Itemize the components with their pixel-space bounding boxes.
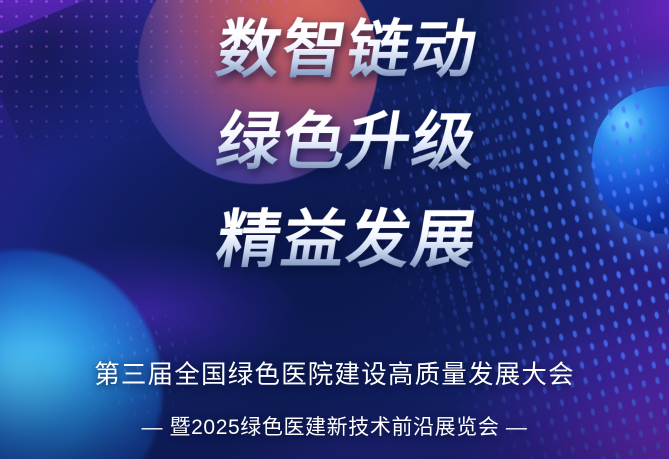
slogan-line-3: 精益发展: [0, 194, 669, 286]
slogan-line-2: 绿色升级: [0, 96, 669, 188]
conference-name: 第三届全国绿色医院建设高质量发展大会: [0, 354, 669, 391]
subtitle-block: 第三届全国绿色医院建设高质量发展大会 — 暨2025绿色医建新技术前沿展览会 —: [0, 354, 669, 441]
slogan-line-1: 数智链动: [0, 4, 669, 96]
exhibition-name: — 暨2025绿色医建新技术前沿展览会 —: [0, 411, 669, 441]
slogan-block: 数智链动 绿色升级 精益发展: [0, 0, 669, 286]
conference-poster: 数智链动 绿色升级 精益发展 第三届全国绿色医院建设高质量发展大会 — 暨202…: [0, 0, 669, 459]
